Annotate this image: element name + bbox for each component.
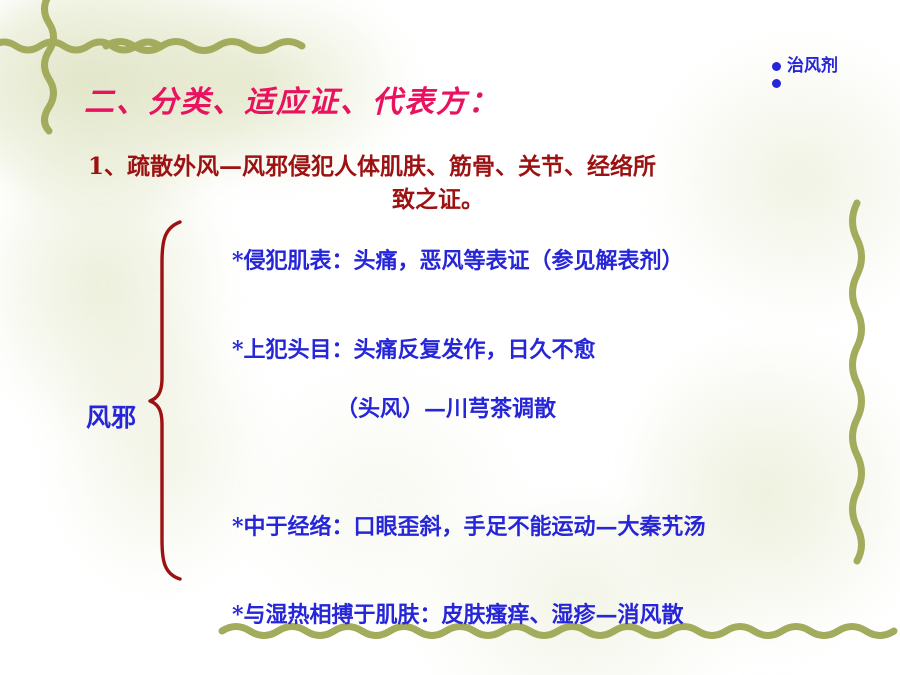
list-item-continuation: （头风）—川芎茶调散 (186, 395, 886, 424)
bullet-dot-icon (772, 62, 781, 71)
bamboo-vertical-decoration-top-left (34, 0, 64, 132)
list-item: *侵犯肌表：头痛，恶风等表证（参见解表剂） (186, 218, 886, 306)
list-item: *与痰湿瘀阻于肌肉、筋骨、关节：肢体挛痛，麻 木，屈伸不利（风湿痹证）—独活寄生… (186, 661, 886, 675)
list-item: *与湿热相搏于肌肤：皮肤瘙痒、湿疹—消风散 (186, 572, 886, 660)
list-item-line: *侵犯肌表：头痛，恶风等表证（参见解表剂） (232, 248, 684, 274)
corner-note-label: 治风剂 (787, 54, 838, 79)
list-item: *中于经络：口眼歪斜，手足不能运动—大秦艽汤 (186, 483, 886, 571)
page-title: 二、分类、适应证、代表方： (84, 77, 500, 121)
bamboo-horizontal-decoration-top-right (102, 30, 322, 60)
curly-brace-decoration (146, 218, 186, 583)
bullet-dot-icon (772, 79, 781, 88)
list-item: *上犯头目：头痛反复发作，日久不愈 （头风）—川芎茶调散 (186, 307, 886, 483)
corner-note: 治风剂 (772, 54, 838, 88)
bamboo-horizontal-decoration-top (0, 30, 190, 60)
symptom-list: *侵犯肌表：头痛，恶风等表证（参见解表剂） *上犯头目：头痛反复发作，日久不愈 … (186, 218, 886, 675)
list-item-line: *上犯头目：头痛反复发作，日久不愈 (232, 337, 596, 363)
lead-paragraph: 1、疏散外风—风邪侵犯人体肌肤、筋骨、关节、经络所 致之证。 (88, 150, 878, 217)
list-item-line: *中于经络：口眼歪斜，手足不能运动—大秦艽汤 (232, 514, 706, 540)
list-item-line: *与湿热相搏于肌肤：皮肤瘙痒、湿疹—消风散 (232, 602, 684, 628)
slide-canvas: 二、分类、适应证、代表方： 治风剂 1、疏散外风—风邪侵犯人体肌肤、筋骨、关节、… (0, 0, 900, 675)
lead-line-2: 致之证。 (88, 183, 788, 216)
corner-note-row: 治风剂 (772, 54, 838, 79)
lead-line-1: 1、疏散外风—风邪侵犯人体肌肤、筋骨、关节、经络所 (88, 153, 656, 180)
corner-note-row-empty (772, 79, 838, 88)
brace-label: 风邪 (86, 398, 136, 434)
